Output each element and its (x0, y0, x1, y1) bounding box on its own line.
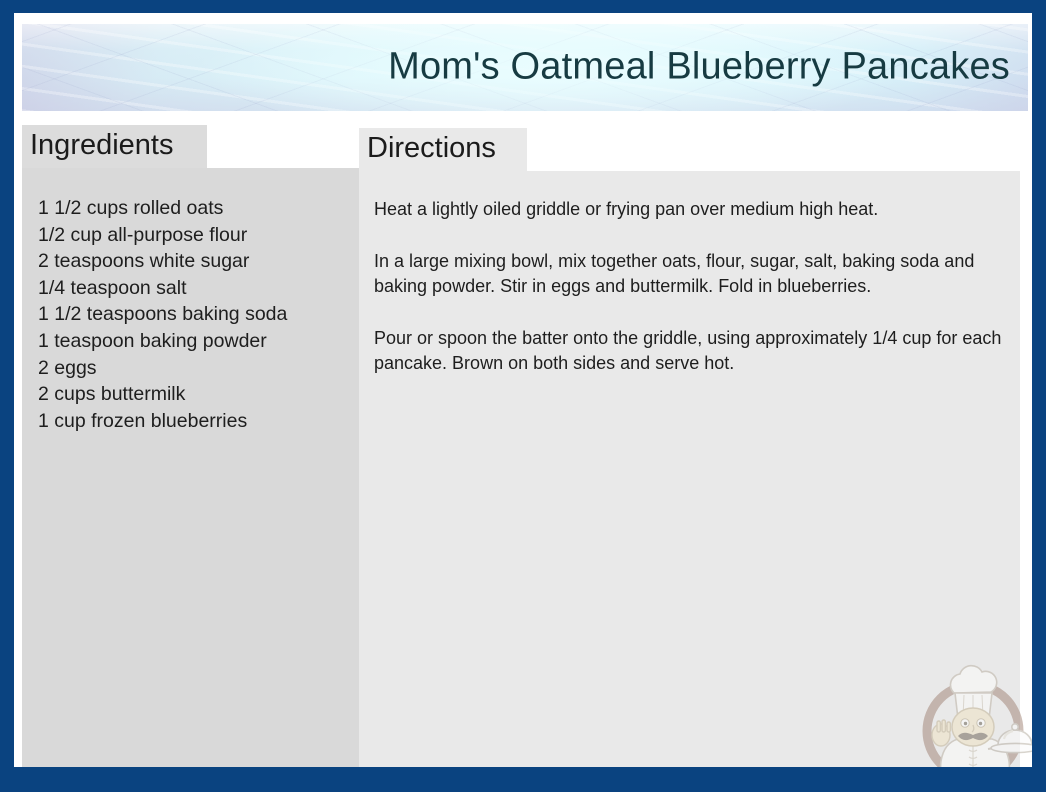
ingredients-heading: Ingredients (30, 129, 174, 162)
directions-heading: Directions (367, 132, 496, 165)
recipe-card: Mom's Oatmeal Blueberry Pancakes (14, 13, 1032, 767)
list-item: 1 1/2 teaspoons baking soda (38, 301, 356, 328)
ingredients-panel: 1 1/2 cups rolled oats 1/2 cup all-purpo… (22, 168, 363, 767)
direction-step: Heat a lightly oiled griddle or frying p… (374, 197, 1006, 223)
directions-panel: Heat a lightly oiled griddle or frying p… (359, 171, 1020, 767)
list-item: 2 teaspoons white sugar (38, 248, 356, 275)
recipe-card-border: Mom's Oatmeal Blueberry Pancakes (0, 0, 1046, 792)
tab-directions[interactable]: Directions (359, 128, 527, 171)
list-item: 2 eggs (38, 355, 356, 382)
list-item: 1/2 cup all-purpose flour (38, 222, 356, 249)
list-item: 1 1/2 cups rolled oats (38, 195, 356, 222)
direction-step: Pour or spoon the batter onto the griddl… (374, 326, 1006, 377)
list-item: 1/4 teaspoon salt (38, 275, 356, 302)
list-item: 2 cups buttermilk (38, 381, 356, 408)
direction-step: In a large mixing bowl, mix together oat… (374, 249, 1006, 300)
list-item: 1 teaspoon baking powder (38, 328, 356, 355)
recipe-title: Mom's Oatmeal Blueberry Pancakes (388, 45, 1010, 88)
tab-ingredients[interactable]: Ingredients (22, 125, 207, 168)
title-banner: Mom's Oatmeal Blueberry Pancakes (22, 24, 1028, 111)
directions-text: Heat a lightly oiled griddle or frying p… (374, 197, 1006, 377)
list-item: 1 cup frozen blueberries (38, 408, 356, 435)
ingredients-list: 1 1/2 cups rolled oats 1/2 cup all-purpo… (38, 195, 356, 434)
